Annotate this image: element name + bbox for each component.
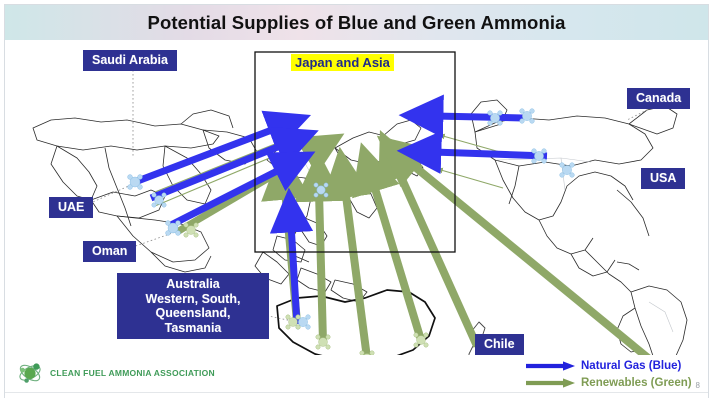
region-label-usa: USA xyxy=(641,168,685,189)
map-canvas: Japan and Asia Saudi Arabia Canada USA U… xyxy=(5,40,708,355)
blue-arrow-icon xyxy=(525,360,577,372)
association-logo: CLEAN FUEL AMMONIA ASSOCIATION xyxy=(17,361,215,385)
region-label-saudi-arabia: Saudi Arabia xyxy=(83,50,177,71)
logo-text: CLEAN FUEL AMMONIA ASSOCIATION xyxy=(50,368,215,378)
page-number: 8 xyxy=(696,381,700,390)
legend-item-natural-gas: Natural Gas (Blue) xyxy=(525,357,692,374)
molecule-icon xyxy=(17,361,43,385)
footer-divider xyxy=(5,392,708,393)
region-label-oman: Oman xyxy=(83,241,136,262)
slide-root: Potential Supplies of Blue and Green Amm… xyxy=(0,0,715,404)
green-arrow-icon xyxy=(525,377,577,389)
asia-region-label: Japan and Asia xyxy=(291,54,394,71)
region-label-australia: Australia Western, South, Queensland, Ta… xyxy=(117,273,269,339)
australia-line-3: Queensland, Tasmania xyxy=(127,306,259,335)
region-label-uae: UAE xyxy=(49,197,93,218)
legend-label-natural-gas: Natural Gas (Blue) xyxy=(581,360,681,372)
world-map-svg xyxy=(5,40,708,355)
region-label-canada: Canada xyxy=(627,88,690,109)
legend: Natural Gas (Blue) Renewables (Green) xyxy=(525,357,692,391)
legend-item-renewables: Renewables (Green) xyxy=(525,374,692,391)
australia-line-1: Australia xyxy=(127,277,259,292)
region-label-chile: Chile xyxy=(475,334,524,355)
slide-title-bar: Potential Supplies of Blue and Green Amm… xyxy=(5,5,708,40)
page-title: Potential Supplies of Blue and Green Amm… xyxy=(148,12,566,34)
legend-label-renewables: Renewables (Green) xyxy=(581,377,692,389)
australia-line-2: Western, South, xyxy=(127,292,259,307)
